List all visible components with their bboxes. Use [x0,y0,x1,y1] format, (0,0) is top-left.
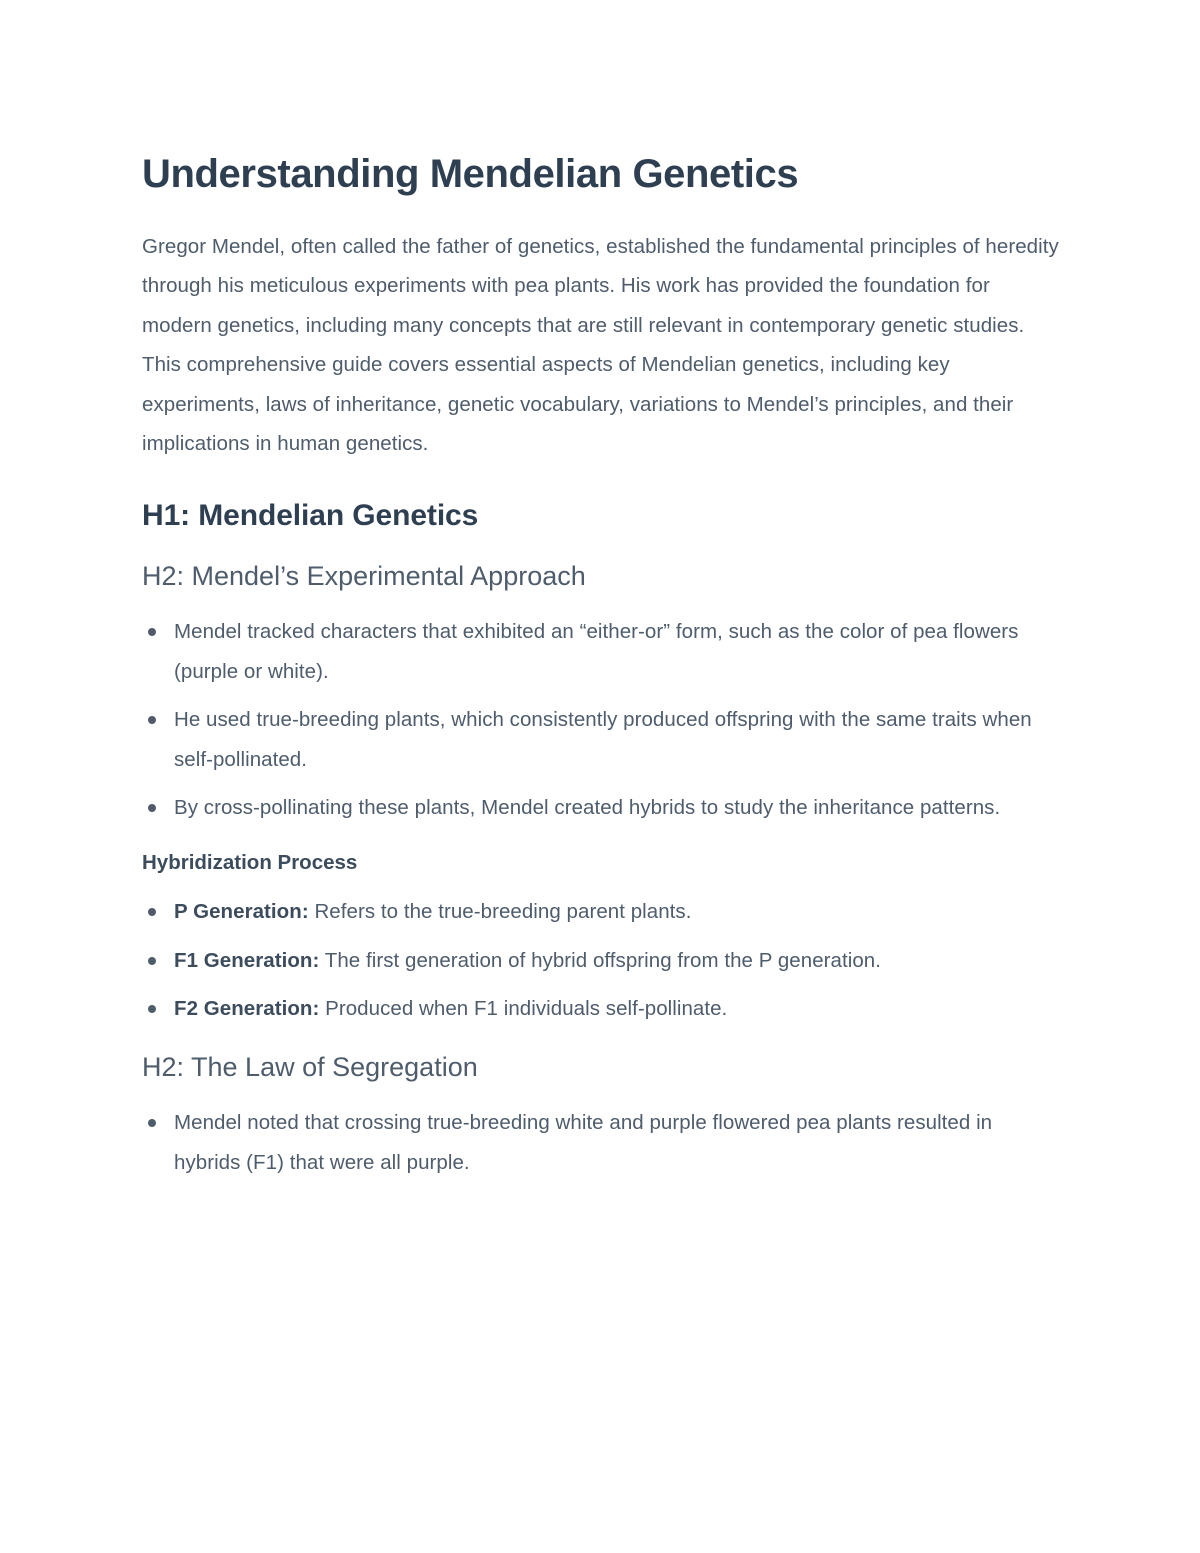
section-heading-h2-law-of-segregation: H2: The Law of Segregation [142,1051,1060,1083]
list-item: F1 Generation: The first generation of h… [142,941,1060,981]
list-item: Mendel tracked characters that exhibited… [142,612,1060,691]
section-heading-h2-experimental-approach: H2: Mendel’s Experimental Approach [142,560,1060,592]
list-item-term: F2 Generation: [174,997,319,1020]
list-item: He used true-breeding plants, which cons… [142,700,1060,779]
list-item: Mendel noted that crossing true-breeding… [142,1103,1060,1182]
bullet-dot-icon [148,804,156,812]
section-heading-h1: H1: Mendelian Genetics [142,498,1060,534]
bullet-dot-icon [148,957,156,965]
list-item-description: Refers to the true-breeding parent plant… [314,900,691,923]
bullet-list-law-of-segregation: Mendel noted that crossing true-breeding… [142,1103,1060,1182]
bullet-dot-icon [148,1005,156,1013]
list-item-description: The first generation of hybrid offspring… [325,949,881,972]
list-item: P Generation: Refers to the true-breedin… [142,892,1060,932]
bullet-dot-icon [148,1119,156,1127]
list-item: By cross-pollinating these plants, Mende… [142,788,1060,828]
bullet-dot-icon [148,716,156,724]
page-title: Understanding Mendelian Genetics [142,152,1060,197]
list-item-text: By cross-pollinating these plants, Mende… [174,796,1000,819]
bullet-dot-icon [148,908,156,916]
intro-paragraph: Gregor Mendel, often called the father o… [142,227,1060,464]
subsection-heading-hybridization-process: Hybridization Process [142,850,1060,877]
list-item-text: Mendel noted that crossing true-breeding… [174,1111,992,1174]
bullet-list-generations: P Generation: Refers to the true-breedin… [142,892,1060,1029]
bullet-dot-icon [148,628,156,636]
bullet-list-experimental-approach: Mendel tracked characters that exhibited… [142,612,1060,828]
list-item-description: Produced when F1 individuals self-pollin… [325,997,727,1020]
list-item-term: P Generation: [174,900,309,923]
list-item-term: F1 Generation: [174,949,319,972]
list-item: F2 Generation: Produced when F1 individu… [142,989,1060,1029]
document-page: Understanding Mendelian Genetics Gregor … [0,0,1200,1553]
list-item-text: He used true-breeding plants, which cons… [174,708,1032,771]
list-item-text: Mendel tracked characters that exhibited… [174,620,1018,683]
